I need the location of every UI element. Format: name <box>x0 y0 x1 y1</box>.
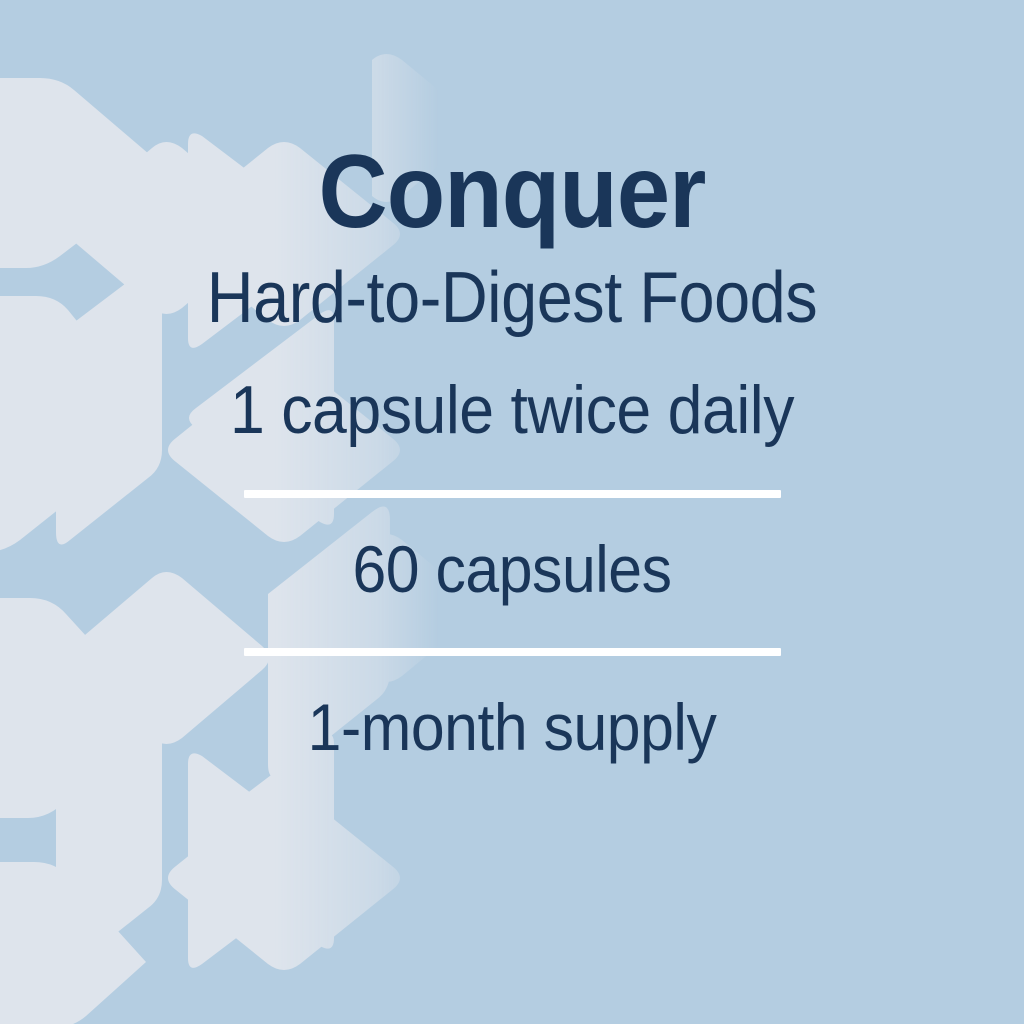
page-subtitle: Hard-to-Digest Foods <box>51 262 973 334</box>
page-title: Conquer <box>41 140 983 244</box>
dosage-text: 1 capsule twice daily <box>41 376 983 444</box>
divider-bottom <box>244 648 781 656</box>
product-info-card: Conquer Hard-to-Digest Foods 1 capsule t… <box>0 0 1024 1024</box>
supply-duration-text: 1-month supply <box>41 694 983 760</box>
capsule-count-text: 60 capsules <box>41 536 983 602</box>
text-content: Conquer Hard-to-Digest Foods 1 capsule t… <box>0 0 1024 1024</box>
divider-top <box>244 490 781 498</box>
